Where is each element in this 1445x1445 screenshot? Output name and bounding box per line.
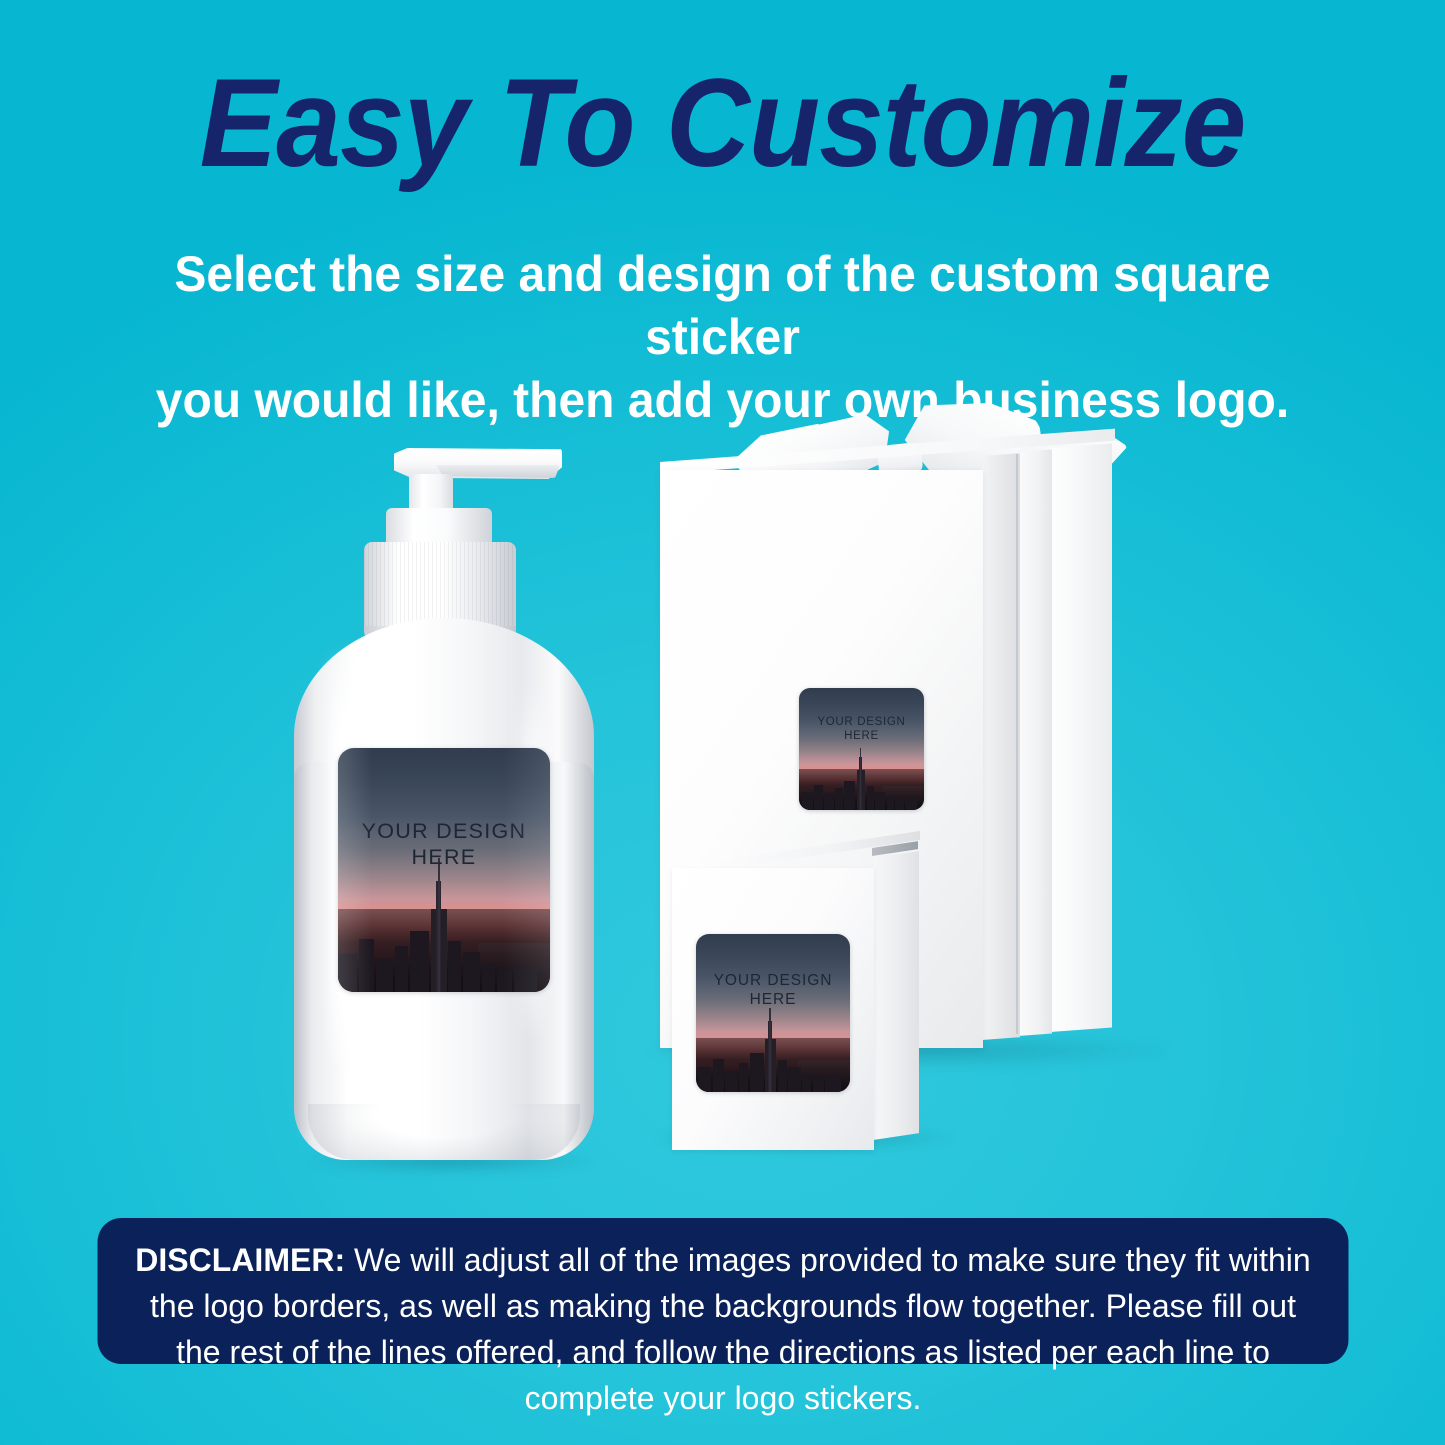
gift-box-side-panel-near (982, 453, 1020, 1040)
sticker-on-bottle-label: YOUR DESIGN HERE (338, 748, 550, 992)
sticker-on-gift-box: YOUR DESIGN HERE (799, 688, 924, 810)
bottle-base-shading (308, 1104, 580, 1160)
product-small-box: YOUR DESIGN HERE (672, 858, 952, 1158)
gift-box-side-panel-far (1050, 443, 1112, 1032)
sticker-city-silhouette (799, 769, 924, 810)
sticker-city-silhouette (696, 1038, 850, 1092)
sticker-text-bottle: YOUR DESIGN HERE (338, 818, 550, 870)
subtitle-line-1: Select the size and design of the custom… (136, 243, 1308, 369)
sticker-text-gift-box: YOUR DESIGN HERE (799, 715, 924, 743)
gift-box-seam (1016, 454, 1018, 1034)
gift-box-side-panel-mid (1018, 450, 1052, 1036)
sticker-text-small-box: YOUR DESIGN HERE (696, 972, 850, 1010)
product-pump-bottle: YOUR DESIGN HERE (286, 432, 606, 1172)
sticker-on-small-box: YOUR DESIGN HERE (696, 934, 850, 1092)
infographic-canvas: Easy To Customize Select the size and de… (0, 0, 1445, 1445)
sticker-city-silhouette (338, 909, 550, 992)
disclaimer-banner: DISCLAIMER: We will adjust all of the im… (98, 1218, 1349, 1364)
disclaimer-label: DISCLAIMER: (135, 1242, 345, 1278)
small-box-side-panel (873, 851, 919, 1140)
page-title: Easy To Customize (51, 58, 1395, 189)
pump-nozzle-underside (436, 465, 560, 478)
